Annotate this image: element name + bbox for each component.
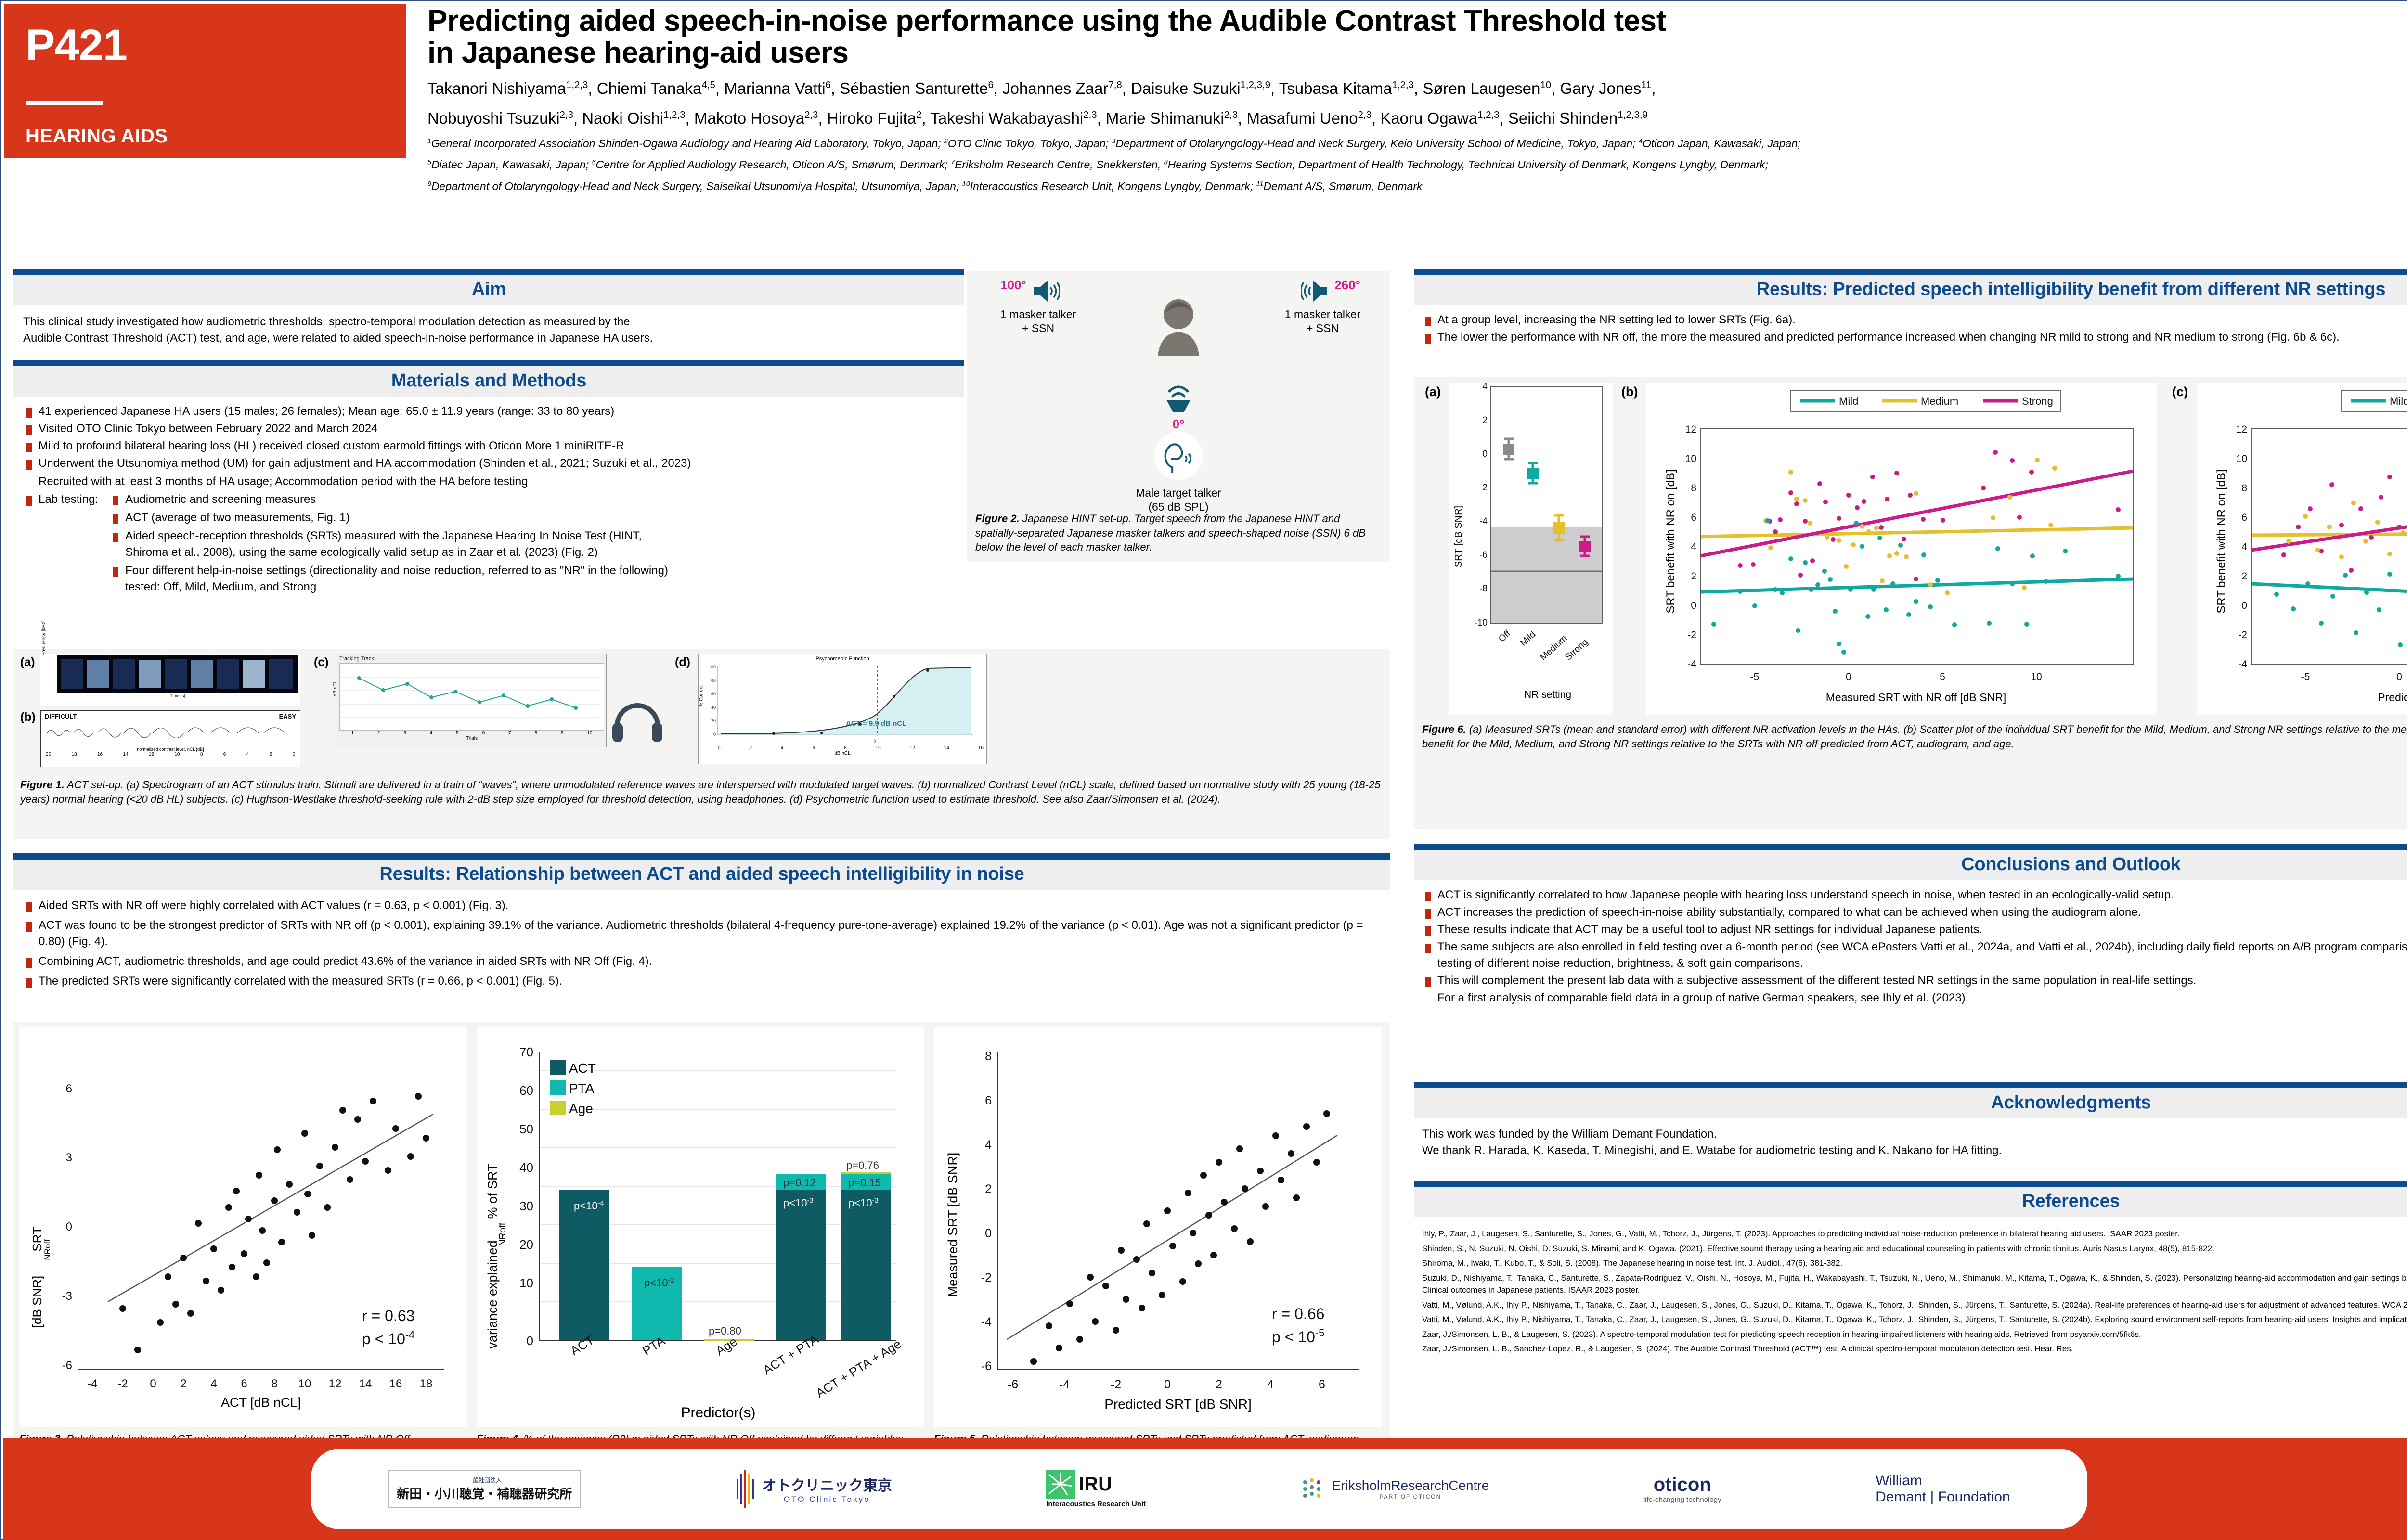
lab-sub-bullet: Aided speech-reception thresholds (SRTs)… bbox=[106, 528, 959, 561]
references-heading: References bbox=[1414, 1191, 2407, 1212]
svg-text:0: 0 bbox=[1482, 449, 1488, 459]
reference-item: Vatti, M., Vølund, A.K., Ihly P., Nishiy… bbox=[1422, 1299, 2407, 1311]
svg-text:8: 8 bbox=[985, 1050, 992, 1063]
svg-text:-6: -6 bbox=[1008, 1378, 1018, 1391]
figure1-caption-text: ACT set-up. (a) Spectrogram of an ACT st… bbox=[20, 779, 1380, 805]
methods-bullet-list: 41 experienced Japanese HA users (15 mal… bbox=[18, 403, 959, 597]
svg-text:10: 10 bbox=[298, 1377, 311, 1390]
conclusion-bullet: ACT is significantly correlated to how J… bbox=[1417, 887, 2407, 903]
eriksholm-dots-icon bbox=[1300, 1476, 1327, 1502]
logo-william-demant: William Demant | Foundation bbox=[1876, 1473, 2010, 1505]
svg-text:PTA: PTA bbox=[569, 1081, 595, 1096]
spectrogram-xlabel: Time [s] bbox=[57, 693, 298, 698]
reference-item: Zaar, J./Simonsen, L. B., & Laugesen, S.… bbox=[1422, 1328, 2407, 1341]
figure1-panel-b-label: (b) bbox=[20, 710, 36, 724]
acknowledgments-line2: We thank R. Harada, K. Kaseda, T. Minegi… bbox=[1422, 1142, 2407, 1159]
oto-clinic-bars-icon bbox=[735, 1469, 757, 1509]
spectrogram-icon bbox=[57, 655, 298, 693]
logo-iru: IRU Interacoustics Research Unit bbox=[1046, 1470, 1146, 1508]
aim-body: This clinical study investigated how aud… bbox=[13, 305, 964, 353]
figure2-caption-text: Japanese HINT set-up. Target speech from… bbox=[975, 513, 1366, 553]
figure6b-panel-label: (b) bbox=[1621, 385, 1638, 399]
logo-oto-en: OTO Clinic Tokyo bbox=[762, 1495, 892, 1504]
conclusions-header: Conclusions and Outlook bbox=[1414, 844, 2407, 880]
figure1-caption-label: Figure 1. bbox=[20, 779, 65, 791]
figure6-caption-text: (a) Measured SRTs (mean and standard err… bbox=[1422, 723, 2407, 750]
logo-oto-clinic: オトクリニック東京 OTO Clinic Tokyo bbox=[735, 1469, 892, 1509]
conclusions-section: Conclusions and Outlook ACT is significa… bbox=[1414, 844, 2407, 1010]
svg-text:-4: -4 bbox=[1479, 516, 1488, 526]
figure6a-errorbar-icon: SRT [dB SNR] 420 -2-4-6 -8-10 bbox=[1449, 383, 1613, 715]
poster-topic: HEARING AIDS bbox=[26, 126, 384, 147]
svg-text:-3: -3 bbox=[62, 1290, 72, 1303]
conclusions-bullets: ACT is significantly correlated to how J… bbox=[1417, 887, 2407, 1007]
acknowledgments-header: Acknowledgments bbox=[1414, 1082, 2407, 1118]
logo-wd-l1: William bbox=[1876, 1473, 2010, 1489]
logo-iru-sub: Interacoustics Research Unit bbox=[1046, 1500, 1146, 1508]
svg-text:2: 2 bbox=[1482, 415, 1488, 425]
ncl-sub-label: normalized contrast level, nCL [dB] bbox=[45, 747, 296, 752]
logo-oticon-main: oticon bbox=[1643, 1474, 1721, 1496]
svg-text:p < 10-5: p < 10-5 bbox=[1272, 1327, 1324, 1346]
acknowledgments-line1: This work was funded by the William Dema… bbox=[1422, 1126, 2407, 1142]
results-left-bullet: ACT was found to be the strongest predic… bbox=[18, 917, 1385, 950]
svg-text:10: 10 bbox=[2031, 671, 2042, 682]
methods-lab-testing-bullet: Lab testing: Audiometric and screening m… bbox=[18, 491, 959, 597]
figure6a-block: (a) SRT [dB SNR] 420 -2-4-6 -8-10 bbox=[1422, 383, 1615, 719]
svg-text:Measured SRT with NR off [dB S: Measured SRT with NR off [dB SNR] bbox=[1826, 691, 2006, 704]
figure2-target-l2: (65 dB SPL) bbox=[1136, 500, 1221, 514]
figure5-block: Measured SRT [dB SNR] 864 20-2 -4-6 -6-4… bbox=[934, 1027, 1382, 1460]
iru-burst-icon bbox=[1046, 1470, 1075, 1499]
svg-text:0: 0 bbox=[1164, 1378, 1171, 1391]
svg-text:% of SRT: % of SRT bbox=[485, 1163, 500, 1219]
conclusion-bullet-text: This will complement the present lab dat… bbox=[1437, 974, 2196, 987]
svg-text:-6: -6 bbox=[1479, 550, 1488, 560]
acknowledgments-heading: Acknowledgments bbox=[1414, 1092, 2407, 1113]
figure2-target-group: Male target talker (65 dB SPL) bbox=[1136, 431, 1221, 514]
svg-text:10: 10 bbox=[519, 1276, 533, 1290]
svg-text:Off: Off bbox=[1497, 629, 1513, 644]
methods-bullet-text: Underwent the Utsunomiya method (UM) for… bbox=[39, 457, 691, 470]
figure6b-scatter-icon: MildMediumStrong SRT benefit with NR on … bbox=[1646, 383, 2157, 715]
svg-text:12: 12 bbox=[329, 1377, 342, 1390]
figure1-ncl-scale: DIFFICULT EASY bbox=[40, 710, 300, 767]
svg-text:20: 20 bbox=[519, 1237, 533, 1252]
svg-text:-2: -2 bbox=[117, 1377, 128, 1390]
lab-sub-cont: tested: Off, Mild, Medium, and Strong bbox=[125, 579, 959, 595]
conclusion-bullet: ACT increases the prediction of speech-i… bbox=[1417, 904, 2407, 921]
figure6c-scatter-icon: MildMediumStrong SRT benefit with NR on … bbox=[2197, 383, 2407, 715]
svg-text:20: 20 bbox=[711, 719, 716, 723]
badge-divider bbox=[26, 101, 103, 105]
svg-text:-6: -6 bbox=[62, 1359, 72, 1372]
svg-text:-2: -2 bbox=[1479, 483, 1488, 493]
figure2-right-group: 260° 1 masker talker + SSN bbox=[1285, 278, 1360, 335]
svg-text:12: 12 bbox=[1685, 424, 1696, 435]
reference-item: Shinden, S., N. Suzuki, N. Oishi, D. Suz… bbox=[1422, 1243, 2407, 1255]
figure5-chart: Measured SRT [dB SNR] 864 20-2 -4-6 -6-4… bbox=[934, 1027, 1382, 1427]
svg-text:0: 0 bbox=[1846, 671, 1851, 682]
references-header: References bbox=[1414, 1181, 2407, 1217]
figure2-angle-center: 0° bbox=[1160, 417, 1197, 432]
conclusion-bullet: This will complement the present lab dat… bbox=[1417, 973, 2407, 1006]
svg-text:Mild: Mild bbox=[1839, 395, 1858, 407]
figure1d: (d) Psychometric Function % Correct 1008… bbox=[675, 654, 1031, 774]
aim-text-line1: This clinical study investigated how aud… bbox=[23, 314, 955, 330]
psychometric-xlabel: dB nCL bbox=[701, 751, 984, 756]
figure1-panel-a-label: (a) bbox=[20, 655, 35, 669]
svg-text:Medium: Medium bbox=[1538, 633, 1569, 663]
svg-text:p=0.15: p=0.15 bbox=[848, 1177, 881, 1189]
svg-text:ACT + PTA + Age: ACT + PTA + Age bbox=[813, 1336, 904, 1400]
methods-section: Materials and Methods 41 experienced Jap… bbox=[13, 360, 964, 601]
affiliations-line2: 5Diatec Japan, Kawasaki, Japan; 6Centre … bbox=[427, 157, 2407, 172]
svg-text:Medium: Medium bbox=[1921, 395, 1958, 407]
svg-text:5: 5 bbox=[1940, 671, 1945, 682]
psychometric-curve-icon: 1008060 40200 8 bbox=[701, 663, 978, 744]
svg-text:Age: Age bbox=[569, 1101, 593, 1116]
lab-sub-cont: Shiroma et al., 2008), using the same ec… bbox=[125, 544, 959, 561]
lab-testing-label: Lab testing: bbox=[39, 491, 98, 597]
acknowledgments-section: Acknowledgments This work was funded by … bbox=[1414, 1082, 2407, 1161]
figure2-target-l1: Male target talker bbox=[1136, 486, 1221, 500]
poster-number-badge: P421 HEARING AIDS bbox=[4, 4, 406, 158]
figure6-caption-label: Figure 6. bbox=[1422, 723, 1466, 735]
tracking-track-icon bbox=[340, 664, 600, 730]
aim-section: Aim This clinical study investigated how… bbox=[13, 269, 964, 353]
svg-text:6: 6 bbox=[1319, 1378, 1325, 1391]
speaker-center-icon bbox=[1160, 379, 1197, 413]
lab-sub-text: Aided speech-reception thresholds (SRTs)… bbox=[125, 529, 642, 542]
svg-text:-2: -2 bbox=[2238, 629, 2247, 641]
svg-text:4: 4 bbox=[210, 1377, 217, 1390]
headphones-icon bbox=[608, 696, 666, 749]
svg-text:-6: -6 bbox=[981, 1360, 992, 1373]
poster-number: P421 bbox=[26, 23, 384, 67]
results-left-header: Results: Relationship between ACT and ai… bbox=[13, 853, 1390, 890]
psychometric-act-annotation: ACT = 9.9 dB nCL bbox=[846, 719, 906, 728]
figure2-caption: Figure 2. Japanese HINT set-up. Target s… bbox=[975, 512, 1382, 554]
conclusions-heading: Conclusions and Outlook bbox=[1414, 854, 2407, 875]
svg-text:40: 40 bbox=[519, 1160, 533, 1175]
affiliations-line3: 9Department of Otolaryngology-Head and N… bbox=[427, 179, 2407, 194]
figure2-diagram: 100° 1 masker talker + SSN bbox=[975, 278, 1382, 509]
svg-text:-4: -4 bbox=[981, 1315, 992, 1329]
svg-text:3: 3 bbox=[66, 1151, 72, 1164]
svg-text:18: 18 bbox=[420, 1377, 433, 1390]
logo-oticon-sub: life-changing technology bbox=[1643, 1496, 1721, 1504]
svg-text:Age: Age bbox=[713, 1334, 739, 1358]
results-right-bullets: At a group level, increasing the NR sett… bbox=[1417, 312, 2407, 346]
logo-shinden-small: 一般社団法人 bbox=[397, 1476, 572, 1484]
svg-text:4: 4 bbox=[1691, 541, 1696, 552]
svg-text:Predicted SRT with NR off [dB: Predicted SRT with NR off [dB SNR] bbox=[2378, 691, 2407, 704]
right-column: Results: Predicted speech intelligibilit… bbox=[1414, 269, 2407, 348]
poster-title-line2: in Japanese hearing-aid users bbox=[427, 37, 2407, 69]
figure6-caption: Figure 6. (a) Measured SRTs (mean and st… bbox=[1422, 722, 2407, 751]
speaker-right-icon bbox=[1301, 278, 1332, 305]
svg-text:6: 6 bbox=[1691, 512, 1696, 523]
figure3-block: SRT NRoff [dB SNR] 630 -3-6 bbox=[19, 1027, 467, 1460]
svg-text:variance explained: variance explained bbox=[485, 1240, 500, 1348]
svg-text:70: 70 bbox=[519, 1045, 533, 1059]
svg-text:[dB SNR]: [dB SNR] bbox=[30, 1276, 44, 1328]
references-section: References Ihly, P., Zaar, J., Laugesen,… bbox=[1414, 1181, 2407, 1360]
listener-icon bbox=[1152, 294, 1205, 357]
figure3-scatter-icon: SRT NRoff [dB SNR] 630 -3-6 bbox=[25, 1032, 458, 1422]
svg-text:-4: -4 bbox=[87, 1377, 97, 1390]
ncl-waveform-icon bbox=[45, 721, 290, 744]
figure2-angle-left: 100° bbox=[1000, 278, 1026, 293]
logo-eriksholm-main: EriksholmResearchCentre bbox=[1332, 1478, 1489, 1493]
svg-text:6: 6 bbox=[66, 1082, 72, 1095]
svg-text:0: 0 bbox=[1691, 600, 1696, 611]
title-block: Predicting aided speech-in-noise perform… bbox=[427, 5, 2407, 193]
svg-text:10: 10 bbox=[2236, 453, 2247, 464]
svg-text:Mild: Mild bbox=[1518, 629, 1538, 648]
svg-text:50: 50 bbox=[519, 1122, 533, 1136]
ncl-difficult-label: DIFFICULT bbox=[45, 713, 77, 720]
results-left-bullets: Aided SRTs with NR off were highly corre… bbox=[18, 898, 1385, 989]
spectrogram-ylabel: Frequency [kHz] bbox=[41, 620, 47, 655]
figure4-block: % of SRT NRoff variance explained bbox=[477, 1027, 924, 1460]
svg-text:100: 100 bbox=[709, 665, 716, 669]
psychometric-ylabel: % Correct bbox=[699, 685, 704, 706]
svg-text:ACT: ACT bbox=[569, 1061, 596, 1076]
svg-text:Measured SRT [dB SNR]: Measured SRT [dB SNR] bbox=[945, 1153, 960, 1297]
sponsor-logo-strip: 一般社団法人 新田・小川聴覚・補聴器研究所 オトクリニック東京 OTO Clin… bbox=[311, 1449, 2087, 1529]
figure6c-chart: MildMediumStrong SRT benefit with NR on … bbox=[2197, 383, 2407, 715]
methods-heading: Materials and Methods bbox=[13, 371, 964, 391]
methods-header: Materials and Methods bbox=[13, 360, 964, 397]
svg-text:2: 2 bbox=[1691, 571, 1696, 582]
svg-text:40: 40 bbox=[711, 705, 716, 710]
figure1c: (c) Tracking Track dB nCL bbox=[314, 654, 670, 774]
figure1-panel-d-label: (d) bbox=[675, 655, 690, 669]
svg-text:0: 0 bbox=[2241, 600, 2247, 611]
svg-text:2: 2 bbox=[1216, 1378, 1222, 1391]
svg-text:SRT benefit with NR on [dB]: SRT benefit with NR on [dB] bbox=[2215, 469, 2228, 613]
svg-text:0: 0 bbox=[985, 1227, 992, 1240]
svg-text:0: 0 bbox=[150, 1377, 156, 1390]
svg-text:0: 0 bbox=[713, 732, 716, 737]
svg-text:12: 12 bbox=[2236, 424, 2247, 435]
results-right-bullet: The lower the performance with NR off, t… bbox=[1417, 329, 2407, 346]
svg-text:-10: -10 bbox=[1475, 618, 1488, 628]
svg-text:4: 4 bbox=[1482, 383, 1488, 392]
svg-text:6: 6 bbox=[2241, 512, 2247, 523]
aim-text-line2: Audible Contrast Threshold (ACT) test, a… bbox=[23, 330, 955, 346]
tracking-xticks: 12345678910 bbox=[339, 731, 604, 736]
svg-text:60: 60 bbox=[711, 692, 716, 696]
svg-text:0: 0 bbox=[527, 1334, 533, 1348]
svg-text:14: 14 bbox=[359, 1377, 372, 1390]
svg-text:6: 6 bbox=[241, 1377, 247, 1390]
figure5-scatter-icon: Measured SRT [dB SNR] 864 20-2 -4-6 -6-4… bbox=[940, 1032, 1373, 1422]
figure1-panel: (a) (b) Frequency [kHz] bbox=[13, 649, 1390, 839]
figure6b-chart: MildMediumStrong SRT benefit with NR on … bbox=[1646, 383, 2157, 715]
figure6-panel: (a) SRT [dB SNR] 420 -2-4-6 -8-10 bbox=[1414, 377, 2407, 829]
figure2-masker-right-l1: 1 masker talker bbox=[1285, 308, 1360, 321]
figure2-masker-right-l2: + SSN bbox=[1285, 321, 1360, 335]
figure2-angle-right: 260° bbox=[1334, 278, 1360, 293]
tracking-ylabel: dB nCL bbox=[333, 680, 338, 696]
author-list-line1: Takanori Nishiyama1,2,3, Chiemi Tanaka4,… bbox=[427, 78, 2407, 100]
results-left-bullet: Aided SRTs with NR off were highly corre… bbox=[18, 898, 1385, 914]
svg-text:-4: -4 bbox=[1059, 1378, 1070, 1391]
svg-text:2: 2 bbox=[2241, 571, 2247, 582]
svg-text:80: 80 bbox=[711, 678, 716, 683]
lab-sub-bullet: Four different help-in-noise settings (d… bbox=[106, 563, 959, 595]
target-talker-icon bbox=[1153, 431, 1203, 481]
reference-item: Zaar, J./Simonsen, L. B., Sanchez-Lopez,… bbox=[1422, 1343, 2407, 1355]
methods-bullet: Mild to profound bilateral hearing loss … bbox=[18, 438, 959, 454]
aim-header: Aim bbox=[13, 269, 964, 305]
logo-eriksholm-sub: PART OF OTICON bbox=[1332, 1493, 1489, 1500]
logo-shinden-ogawa: 一般社団法人 新田・小川聴覚・補聴器研究所 bbox=[388, 1470, 581, 1508]
svg-text:8: 8 bbox=[271, 1377, 277, 1390]
svg-text:8: 8 bbox=[2241, 483, 2247, 494]
svg-text:8: 8 bbox=[1691, 483, 1696, 494]
tracking-track-chart: Tracking Track dB nCL bbox=[337, 654, 607, 747]
results-right-bullet: At a group level, increasing the NR sett… bbox=[1417, 312, 2407, 328]
svg-text:60: 60 bbox=[519, 1083, 533, 1098]
psychometric-xticks: 0246810121416 bbox=[701, 745, 984, 751]
logo-oto-jp: オトクリニック東京 bbox=[762, 1474, 892, 1495]
psychometric-chart: Psychometric Function % Correct 1008060 … bbox=[698, 654, 987, 764]
svg-text:6: 6 bbox=[985, 1094, 992, 1107]
svg-text:16: 16 bbox=[389, 1377, 402, 1390]
figure6c-block: (c) MildMediumStrong bbox=[2172, 383, 2407, 719]
figure2-left-group: 100° 1 masker talker + SSN bbox=[1000, 278, 1076, 335]
lab-sub-bullet: Audiometric and screening measures bbox=[106, 491, 959, 508]
poster-title-line1: Predicting aided speech-in-noise perform… bbox=[427, 5, 2407, 37]
author-list-line2: Nobuyoshi Tsuzuki2,3, Naoki Oishi1,2,3, … bbox=[427, 108, 2407, 129]
poster-root: P421 HEARING AIDS Predicting aided speec… bbox=[0, 0, 2407, 1540]
lab-testing-sublist: Audiometric and screening measures ACT (… bbox=[106, 491, 959, 597]
results-left-heading: Results: Relationship between ACT and ai… bbox=[13, 864, 1390, 885]
figure2-center-speaker-group: 0° bbox=[1160, 379, 1197, 432]
svg-text:0: 0 bbox=[66, 1220, 72, 1233]
figure2-masker-left-l2: + SSN bbox=[1000, 321, 1076, 335]
svg-text:-4: -4 bbox=[1687, 659, 1696, 670]
svg-text:4: 4 bbox=[985, 1138, 992, 1152]
conclusion-bullet: The same subjects are also enrolled in f… bbox=[1417, 939, 2407, 972]
svg-text:p=0.80: p=0.80 bbox=[709, 1325, 741, 1337]
methods-body: 41 experienced Japanese HA users (15 mal… bbox=[13, 397, 964, 601]
speaker-left-icon bbox=[1029, 278, 1060, 305]
results-left-section: Results: Relationship between ACT and ai… bbox=[13, 853, 1390, 995]
svg-text:SRT [dB SNR]: SRT [dB SNR] bbox=[1453, 506, 1464, 567]
svg-text:SRT benefit with NR on [dB]: SRT benefit with NR on [dB] bbox=[1664, 469, 1677, 613]
svg-text:-4: -4 bbox=[2238, 659, 2247, 670]
svg-text:p < 10-4: p < 10-4 bbox=[362, 1329, 414, 1347]
aim-heading: Aim bbox=[13, 279, 964, 300]
results-right-header: Results: Predicted speech intelligibilit… bbox=[1414, 269, 2407, 305]
figure2-caption-label: Figure 2. bbox=[975, 513, 1020, 525]
methods-bullet: 41 experienced Japanese HA users (15 mal… bbox=[18, 403, 959, 420]
figure4-bar-icon: % of SRT NRoff variance explained bbox=[482, 1032, 916, 1422]
svg-text:10: 10 bbox=[1685, 453, 1696, 464]
tracking-xlabel: Trials bbox=[339, 736, 604, 741]
poster-footer: 一般社団法人 新田・小川聴覚・補聴器研究所 オトクリニック東京 OTO Clin… bbox=[3, 1438, 2407, 1540]
logo-shinden-main: 新田・小川聴覚・補聴器研究所 bbox=[397, 1484, 572, 1502]
svg-text:4: 4 bbox=[1267, 1378, 1274, 1391]
svg-text:2: 2 bbox=[180, 1377, 186, 1390]
figure1a-b: (a) (b) Frequency [kHz] bbox=[20, 654, 309, 774]
results-right-heading: Results: Predicted speech intelligibilit… bbox=[1414, 279, 2407, 300]
svg-text:p=0.12: p=0.12 bbox=[783, 1177, 816, 1189]
affiliations-line1: 1General Incorporated Association Shinde… bbox=[427, 136, 2407, 151]
figure1-spectrogram: Frequency [kHz] bbox=[40, 654, 300, 706]
svg-text:0: 0 bbox=[2396, 671, 2402, 682]
svg-text:r = 0.63: r = 0.63 bbox=[362, 1307, 414, 1324]
poster-header: P421 HEARING AIDS Predicting aided speec… bbox=[1, 1, 2407, 257]
conclusion-bullet-cont: For a first analysis of comparable field… bbox=[1437, 990, 2407, 1006]
reference-item: Ihly, P., Zaar, J., Laugesen, S., Santur… bbox=[1422, 1228, 2407, 1240]
figure6a-panel-label: (a) bbox=[1425, 385, 1441, 399]
results-left-bullet: The predicted SRTs were significantly co… bbox=[18, 973, 1385, 989]
conclusion-bullet: These results indicate that ACT may be a… bbox=[1417, 922, 2407, 938]
figure2-masker-left-l1: 1 masker talker bbox=[1000, 308, 1076, 321]
logo-oticon: oticon life-changing technology bbox=[1643, 1474, 1721, 1504]
svg-text:SRT: SRT bbox=[30, 1227, 44, 1252]
results-left-bullet: Combining ACT, audiometric thresholds, a… bbox=[18, 953, 1385, 970]
svg-text:30: 30 bbox=[519, 1199, 533, 1213]
svg-text:-2: -2 bbox=[981, 1271, 992, 1284]
svg-text:Mild: Mild bbox=[2390, 395, 2407, 407]
svg-text:r = 0.66: r = 0.66 bbox=[1272, 1305, 1324, 1322]
spectrogram-image bbox=[57, 655, 298, 693]
tracking-track-title: Tracking Track bbox=[339, 656, 604, 662]
svg-text:Predicted SRT [dB SNR]: Predicted SRT [dB SNR] bbox=[1104, 1397, 1252, 1412]
svg-text:2: 2 bbox=[985, 1182, 992, 1196]
figure4-chart: % of SRT NRoff variance explained bbox=[477, 1027, 924, 1427]
svg-text:-8: -8 bbox=[1479, 584, 1488, 594]
ncl-easy-label: EASY bbox=[279, 713, 296, 720]
logo-eriksholm: EriksholmResearchCentre PART OF OTICON bbox=[1300, 1476, 1489, 1502]
logo-iru-main: IRU bbox=[1079, 1474, 1112, 1495]
lab-sub-bullet: ACT (average of two measurements, Fig. 1… bbox=[106, 510, 959, 526]
psychometric-title: Psychometric Function bbox=[701, 656, 984, 662]
figure3-chart: SRT NRoff [dB SNR] 630 -3-6 bbox=[19, 1027, 467, 1427]
reference-item: Suzuki, D., Nishiyama, T., Tanaka, C., S… bbox=[1422, 1272, 2407, 1296]
ncl-tick-row: 20181614121086420 bbox=[45, 752, 296, 757]
svg-text:-2: -2 bbox=[1687, 629, 1696, 641]
figure1-panel-c-label: (c) bbox=[314, 655, 329, 669]
lab-sub-text: Four different help-in-noise settings (d… bbox=[125, 564, 668, 577]
figure6c-panel-label: (c) bbox=[2172, 385, 2188, 399]
figure1-caption: Figure 1. ACT set-up. (a) Spectrogram of… bbox=[20, 778, 1384, 806]
svg-text:ACT [dB nCL]: ACT [dB nCL] bbox=[221, 1395, 301, 1410]
svg-text:4: 4 bbox=[2241, 541, 2247, 552]
svg-text:-5: -5 bbox=[1750, 671, 1760, 682]
methods-bullet: Visited OTO Clinic Tokyo between Februar… bbox=[18, 421, 959, 437]
svg-text:-5: -5 bbox=[2301, 671, 2310, 682]
svg-text:NR setting: NR setting bbox=[1524, 689, 1571, 700]
svg-text:Strong: Strong bbox=[2022, 395, 2053, 407]
methods-bullet: Underwent the Utsunomiya method (UM) for… bbox=[18, 455, 959, 490]
reference-item: Vatti, M., Vølund, A.K., Ihly P., Nishiy… bbox=[1422, 1313, 2407, 1326]
reference-item: Shiroma, M., Iwaki, T., Kubo, T., & Soli… bbox=[1422, 1257, 2407, 1270]
figure2-panel: 100° 1 masker talker + SSN bbox=[967, 271, 1390, 562]
figure6a-chart: SRT [dB SNR] 420 -2-4-6 -8-10 bbox=[1449, 383, 1613, 715]
svg-text:Predictor(s): Predictor(s) bbox=[681, 1405, 755, 1421]
svg-text:p=0.76: p=0.76 bbox=[846, 1159, 879, 1171]
results-right-section: Results: Predicted speech intelligibilit… bbox=[1414, 269, 2407, 348]
svg-text:NRoff: NRoff bbox=[43, 1239, 52, 1260]
